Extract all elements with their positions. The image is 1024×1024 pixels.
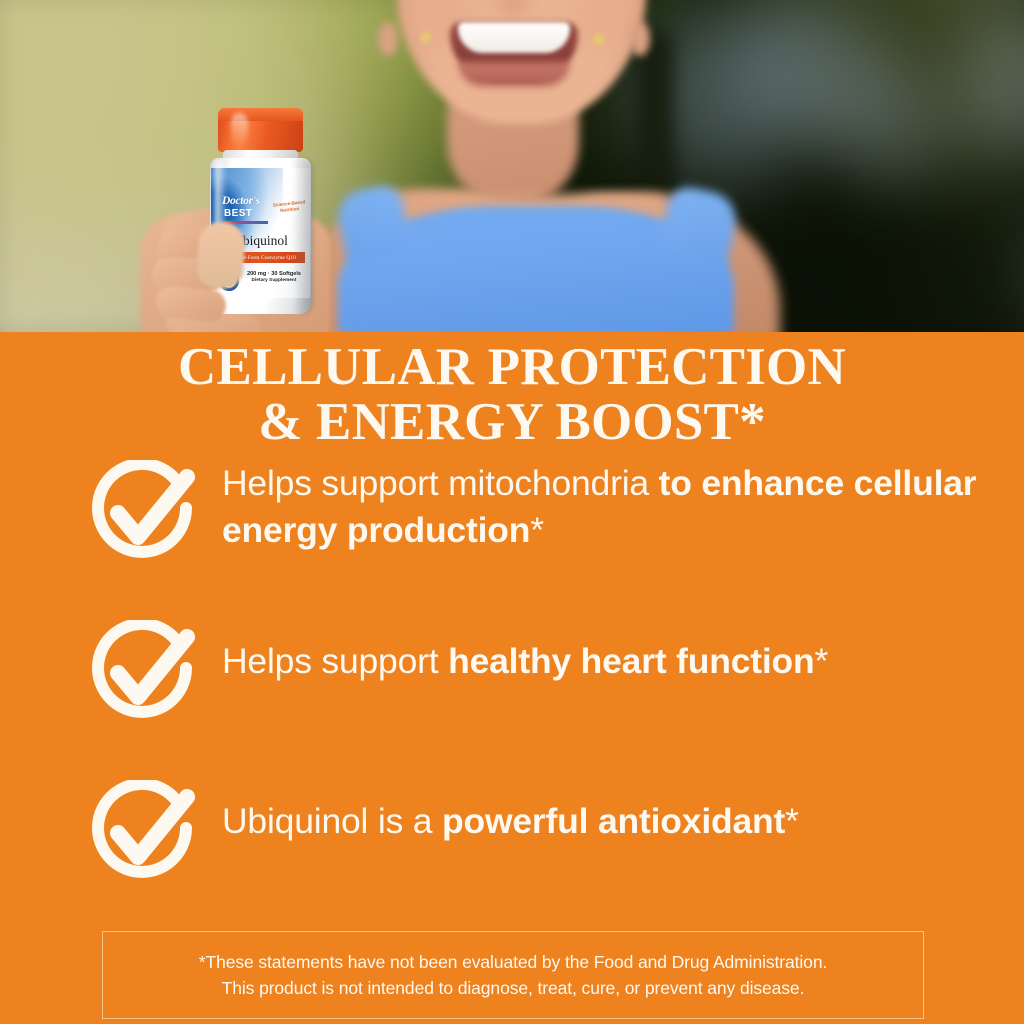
benefit-text-regular: Ubiquinol is a bbox=[222, 801, 442, 841]
list-item: Helps support mitochondria to enhance ce… bbox=[0, 460, 1024, 568]
benefit-text: Helps support healthy heart function* bbox=[222, 620, 828, 685]
benefit-text: Helps support mitochondria to enhance ce… bbox=[222, 460, 1012, 554]
disclaimer-text: *These statements have not been evaluate… bbox=[199, 949, 827, 1001]
check-circle-icon bbox=[88, 460, 200, 568]
disclaimer-box: *These statements have not been evaluate… bbox=[102, 931, 924, 1019]
marketing-infographic: Doctor's BEST Science-Based Nutrition Ub… bbox=[0, 0, 1024, 1024]
earring-left-icon bbox=[420, 32, 431, 43]
benefit-text-regular: Helps support mitochondria bbox=[222, 463, 659, 503]
earring-right-icon bbox=[593, 34, 604, 45]
teeth bbox=[458, 22, 570, 53]
brand-logo-best: BEST bbox=[224, 209, 252, 219]
benefit-text-bold: powerful antioxidant bbox=[442, 801, 785, 841]
headline-line-1: CELLULAR PROTECTION bbox=[178, 338, 846, 396]
page-title: CELLULAR PROTECTION & ENERGY BOOST* bbox=[0, 340, 1024, 450]
benefit-text: Ubiquinol is a powerful antioxidant* bbox=[222, 780, 799, 845]
headline-line-2: & ENERGY BOOST* bbox=[0, 395, 1024, 450]
disclaimer-line-2: This product is not intended to diagnose… bbox=[222, 978, 805, 998]
content-panel: CELLULAR PROTECTION & ENERGY BOOST* Help… bbox=[0, 332, 1024, 1024]
benefit-asterisk: * bbox=[530, 510, 544, 550]
list-item: Helps support healthy heart function* bbox=[0, 620, 1024, 728]
check-circle-icon bbox=[88, 780, 200, 888]
benefit-text-bold: healthy heart function bbox=[448, 641, 814, 681]
check-circle-icon bbox=[88, 620, 200, 728]
hero-photo: Doctor's BEST Science-Based Nutrition Ub… bbox=[0, 0, 1024, 332]
benefit-asterisk: * bbox=[815, 641, 829, 681]
disclaimer-line-1: *These statements have not been evaluate… bbox=[199, 952, 827, 972]
list-item: Ubiquinol is a powerful antioxidant* bbox=[0, 780, 1024, 888]
benefit-text-regular: Helps support bbox=[222, 641, 448, 681]
product-dose-sub: Dietary Supplement bbox=[252, 277, 297, 282]
benefit-asterisk: * bbox=[785, 801, 799, 841]
benefits-list: Helps support mitochondria to enhance ce… bbox=[0, 460, 1024, 888]
